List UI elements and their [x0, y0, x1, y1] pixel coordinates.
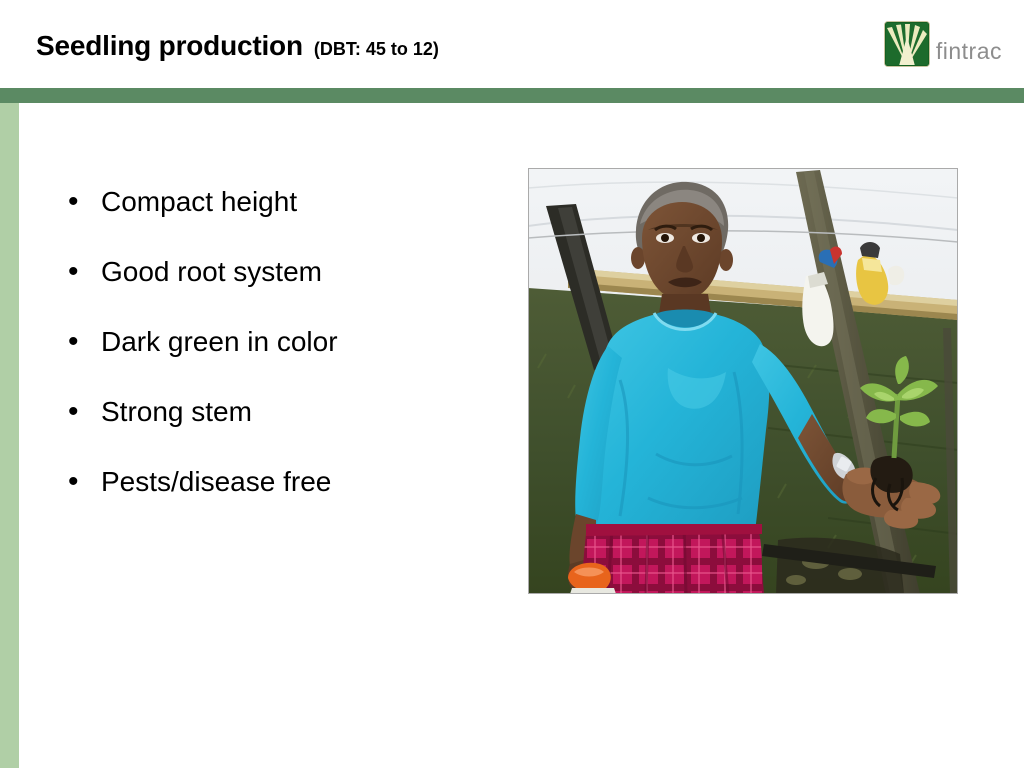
- left-accent-sidebar: [0, 103, 19, 768]
- bullet-text: Pests/disease free: [101, 466, 331, 498]
- page-title: Seedling production (DBT: 45 to 12): [36, 30, 439, 62]
- slide-header: Seedling production (DBT: 45 to 12): [0, 0, 1024, 88]
- list-item: • Strong stem: [68, 396, 498, 466]
- bullet-text: Compact height: [101, 186, 297, 218]
- seedling-photo: [528, 168, 958, 594]
- bullet-text: Good root system: [101, 256, 322, 288]
- fintrac-rays-logo-icon: [884, 21, 930, 67]
- slide-canvas: Seedling production (DBT: 45 to 12): [0, 0, 1024, 768]
- header-divider-bar: [0, 88, 1024, 103]
- list-item: • Good root system: [68, 256, 498, 326]
- list-item: • Pests/disease free: [68, 466, 498, 536]
- bullet-marker-icon: •: [68, 466, 101, 498]
- bullet-marker-icon: •: [68, 186, 101, 218]
- bullet-list: • Compact height • Good root system • Da…: [68, 186, 498, 536]
- title-subtitle-text: (DBT: 45 to 12): [314, 39, 439, 60]
- bullet-marker-icon: •: [68, 256, 101, 288]
- bullet-text: Dark green in color: [101, 326, 338, 358]
- bullet-text: Strong stem: [101, 396, 252, 428]
- fintrac-logo: fintrac: [884, 21, 1002, 67]
- list-item: • Compact height: [68, 186, 498, 256]
- bullet-marker-icon: •: [68, 326, 101, 358]
- bullet-marker-icon: •: [68, 396, 101, 428]
- list-item: • Dark green in color: [68, 326, 498, 396]
- title-main-text: Seedling production: [36, 30, 303, 62]
- fintrac-wordmark: fintrac: [936, 40, 1002, 63]
